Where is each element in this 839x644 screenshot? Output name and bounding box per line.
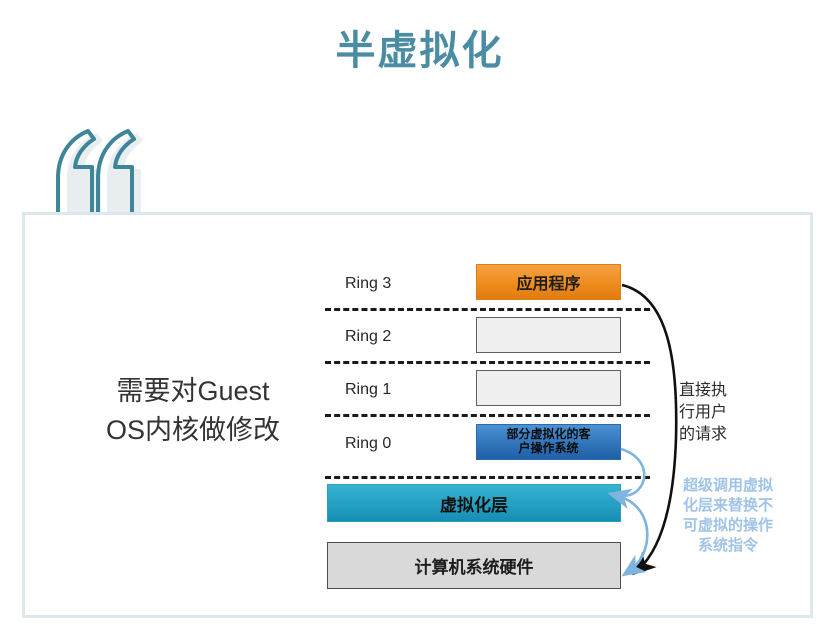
ring-label-0: Ring 0 bbox=[345, 422, 391, 466]
ring-label-1: Ring 1 bbox=[345, 368, 391, 412]
ring-divider-0-hypervisor bbox=[325, 476, 650, 479]
ring-divider-2-1 bbox=[325, 361, 650, 364]
hypercall-line-2: 化层来替换不 bbox=[660, 496, 796, 516]
direct-execution-line-1: 直接执 bbox=[679, 380, 775, 402]
ring-row-3: Ring 3 应用程序 bbox=[325, 262, 650, 306]
ring-label-2: Ring 2 bbox=[345, 315, 391, 359]
application-box[interactable]: 应用程序 bbox=[476, 264, 621, 300]
hardware-layer-box[interactable]: 计算机系统硬件 bbox=[327, 542, 621, 589]
ring-row-0: Ring 0 部分虚拟化的客 户操作系统 bbox=[325, 422, 650, 466]
ring-1-box[interactable] bbox=[476, 370, 621, 406]
left-caption-line-1: 需要对Guest bbox=[78, 372, 308, 411]
application-box-label: 应用程序 bbox=[516, 270, 580, 294]
left-caption-line-2: OS内核做修改 bbox=[78, 411, 308, 450]
guest-os-box[interactable]: 部分虚拟化的客 户操作系统 bbox=[476, 424, 621, 460]
hardware-layer-label: 计算机系统硬件 bbox=[415, 553, 534, 578]
ring-divider-3-2 bbox=[325, 308, 650, 311]
direct-execution-line-3: 的请求 bbox=[679, 424, 775, 446]
guest-os-box-label-line-1: 部分虚拟化的客 bbox=[506, 428, 590, 442]
virtualization-layer-box[interactable]: 虚拟化层 bbox=[327, 484, 621, 522]
hypercall-line-1: 超级调用虚拟 bbox=[660, 476, 796, 496]
virtualization-layer-label: 虚拟化层 bbox=[440, 491, 508, 516]
left-caption: 需要对Guest OS内核做修改 bbox=[78, 372, 308, 450]
ring-row-2: Ring 2 bbox=[325, 315, 650, 359]
ring-divider-1-0 bbox=[325, 414, 650, 417]
direct-execution-annotation: 直接执 行用户 的请求 bbox=[679, 380, 775, 446]
ring-diagram: Ring 3 应用程序 Ring 2 Ring 1 Ring 0 部分虚拟化的客… bbox=[325, 262, 650, 592]
ring-label-3: Ring 3 bbox=[345, 262, 391, 306]
hypercall-line-4: 系统指令 bbox=[660, 536, 796, 556]
hypercall-line-3: 可虚拟的操作 bbox=[660, 516, 796, 536]
direct-execution-line-2: 行用户 bbox=[679, 402, 775, 424]
hypercall-annotation: 超级调用虚拟 化层来替换不 可虚拟的操作 系统指令 bbox=[660, 476, 796, 556]
guest-os-box-label-line-2: 户操作系统 bbox=[518, 442, 578, 456]
ring-row-1: Ring 1 bbox=[325, 368, 650, 412]
open-quote-icon bbox=[40, 128, 150, 224]
page-title: 半虚拟化 bbox=[0, 28, 839, 74]
ring-2-box[interactable] bbox=[476, 317, 621, 353]
